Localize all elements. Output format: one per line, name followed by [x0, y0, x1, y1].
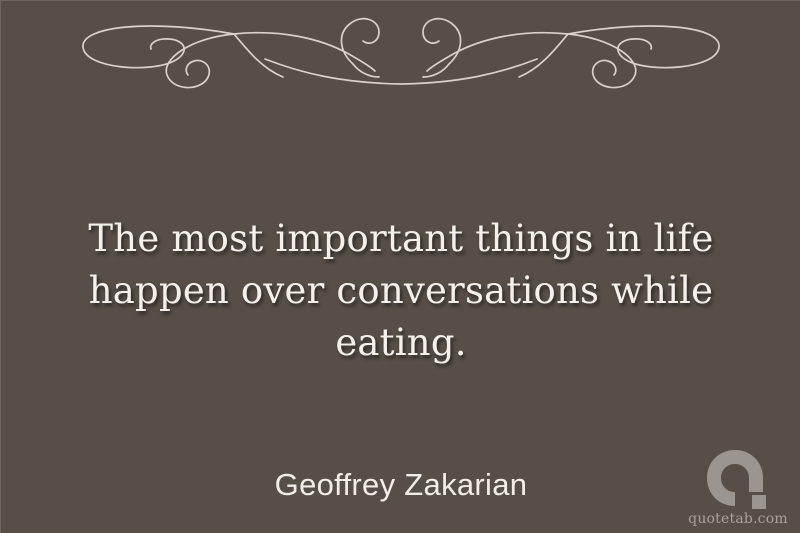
brand-site-label: quotetab.com [684, 511, 792, 527]
quote-card: The most important things in life happen… [0, 0, 800, 533]
quote-text: The most important things in life happen… [25, 213, 777, 369]
author-block: Geoffrey Zakarian [1, 467, 800, 503]
quotetab-logo-icon[interactable] [684, 448, 792, 510]
author-name: Geoffrey Zakarian [1, 467, 800, 503]
brand-watermark[interactable]: quotetab.com [684, 448, 792, 527]
quote-block: The most important things in life happen… [1, 213, 800, 369]
flourish-ornament-icon [1, 1, 800, 101]
